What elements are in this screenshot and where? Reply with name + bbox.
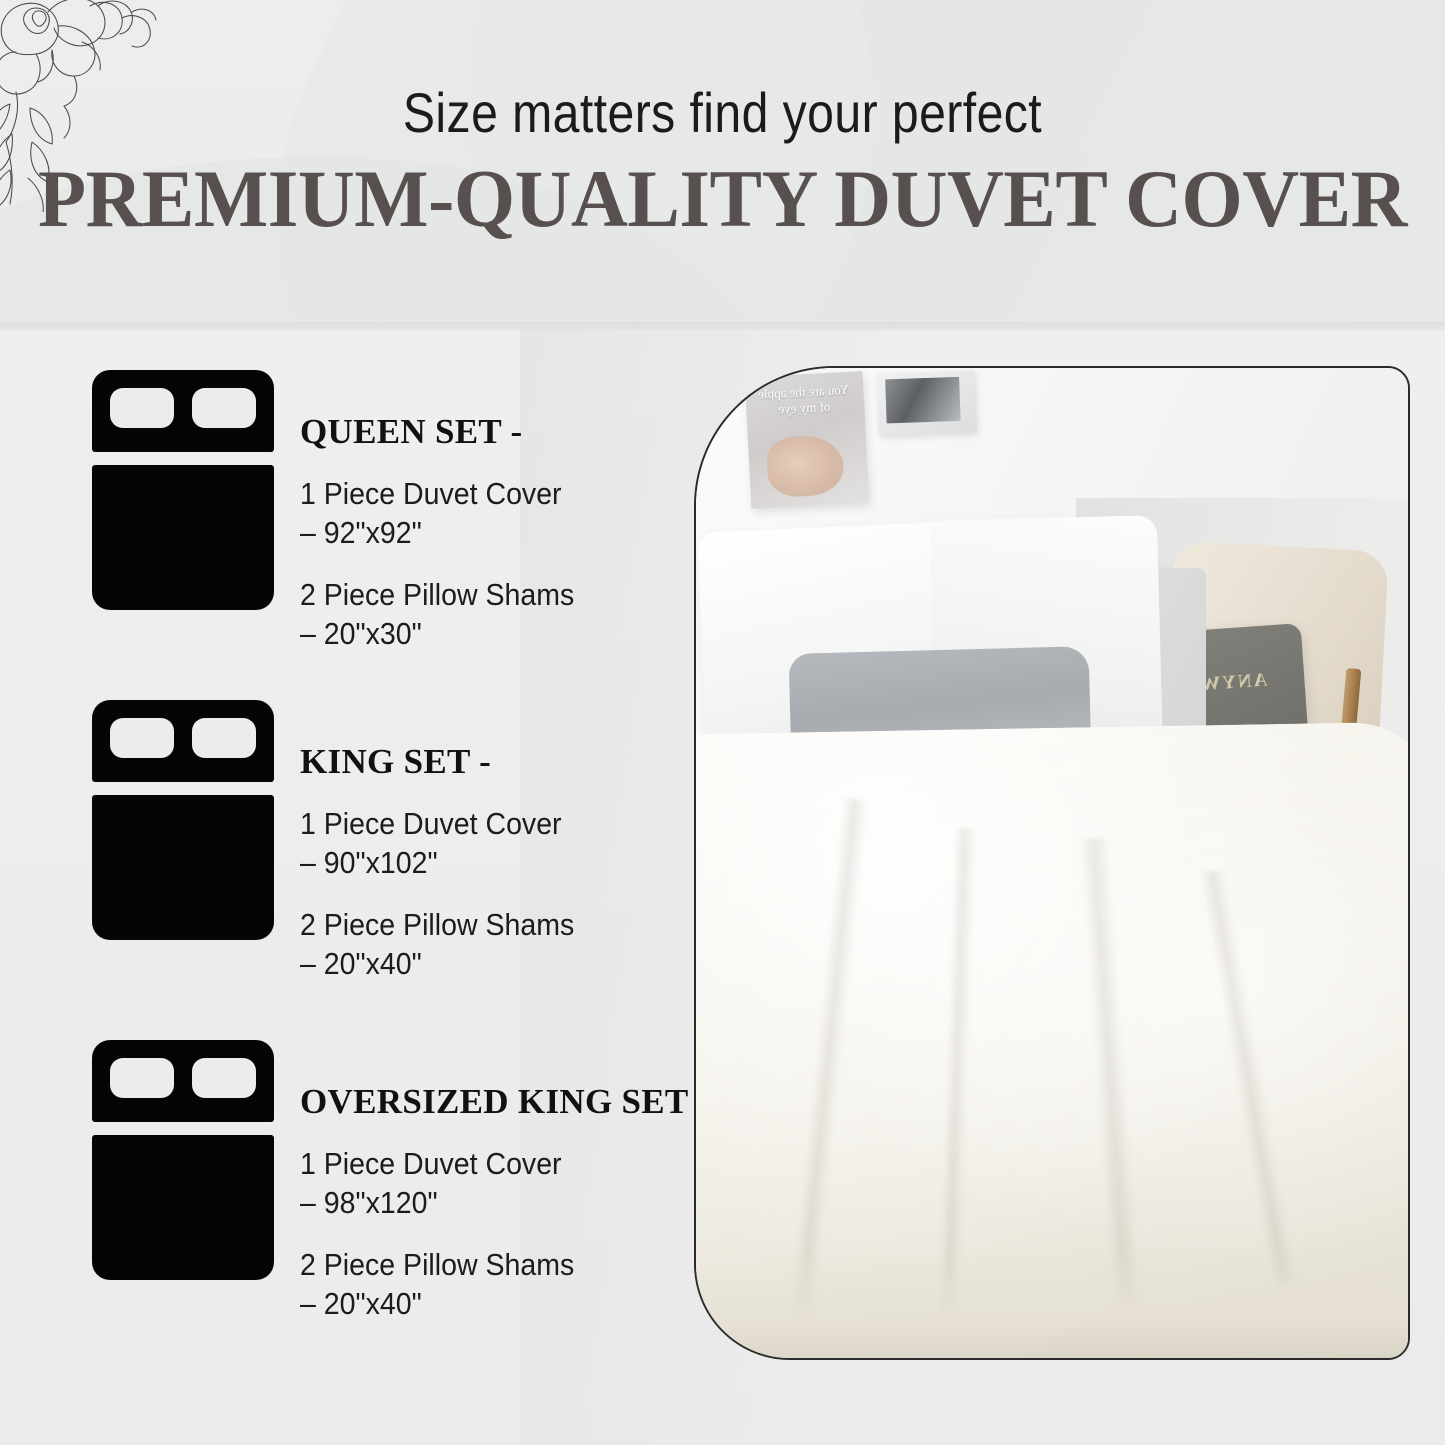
bed-mattress-shape xyxy=(92,1135,274,1280)
size-row-oversized-king: OVERSIZED KING SET - 1 Piece Duvet Cover… xyxy=(92,1040,709,1323)
size-detail-line: 1 Piece Duvet Cover xyxy=(300,474,574,513)
size-detail-line: 2 Piece Pillow Shams xyxy=(300,1245,676,1284)
wall-poster-left: You are the apple of my eye xyxy=(745,371,870,509)
header: Size matters find your perfect PREMIUM-Q… xyxy=(0,0,1445,325)
bed-headboard-shape xyxy=(92,700,274,782)
bedroom-lifestyle-photo: You are the apple of my eye ANYWHERE xyxy=(694,366,1410,1360)
size-detail-line: – 92"x92" xyxy=(300,513,574,552)
bed-headboard-shape xyxy=(92,1040,274,1122)
bed-pillow-left xyxy=(110,718,174,758)
size-row-king: KING SET - 1 Piece Duvet Cover – 90"x102… xyxy=(92,700,598,983)
duvet-hem xyxy=(694,1241,1410,1360)
bed-mattress-shape xyxy=(92,465,274,610)
size-detail-line: – 98"x120" xyxy=(300,1183,676,1222)
size-title: KING SET - xyxy=(300,742,598,782)
size-title: QUEEN SET - xyxy=(300,412,598,452)
bed-pillow-right xyxy=(192,1058,256,1098)
size-detail-line: 2 Piece Pillow Shams xyxy=(300,905,574,944)
bed-icon xyxy=(92,700,274,940)
size-detail-line: – 20"x40" xyxy=(300,1284,676,1323)
wall-poster-right xyxy=(877,370,977,435)
infographic-canvas: Size matters find your perfect PREMIUM-Q… xyxy=(0,0,1445,1445)
bed-pillow-right xyxy=(192,388,256,428)
page-title: PREMIUM-QUALITY DUVET COVER xyxy=(29,157,1416,241)
size-detail-line: 2 Piece Pillow Shams xyxy=(300,575,574,614)
bed-mattress-shape xyxy=(92,795,274,940)
size-text-block: QUEEN SET - 1 Piece Duvet Cover – 92"x92… xyxy=(300,370,598,653)
poster-text: You are the apple of my eye xyxy=(753,382,855,420)
size-text-block: KING SET - 1 Piece Duvet Cover – 90"x102… xyxy=(300,700,598,983)
title-block: Size matters find your perfect PREMIUM-Q… xyxy=(0,84,1445,240)
poster-hand-graphic xyxy=(766,434,845,498)
bed-headboard-shape xyxy=(92,370,274,452)
bed-pillow-left xyxy=(110,388,174,428)
poster-photo-graphic xyxy=(885,377,960,424)
page-subtitle: Size matters find your perfect xyxy=(101,84,1344,143)
size-text-block: OVERSIZED KING SET - 1 Piece Duvet Cover… xyxy=(300,1040,709,1323)
size-list: QUEEN SET - 1 Piece Duvet Cover – 92"x92… xyxy=(0,325,660,1445)
size-detail-line: – 90"x102" xyxy=(300,843,574,882)
bed-pillow-left xyxy=(110,1058,174,1098)
size-detail-line: – 20"x40" xyxy=(300,944,574,983)
size-detail-line: – 20"x30" xyxy=(300,614,574,653)
size-detail-line: 1 Piece Duvet Cover xyxy=(300,804,574,843)
size-detail-line: 1 Piece Duvet Cover xyxy=(300,1144,676,1183)
size-row-queen: QUEEN SET - 1 Piece Duvet Cover – 92"x92… xyxy=(92,370,598,653)
bed-icon xyxy=(92,370,274,610)
bed-icon xyxy=(92,1040,274,1280)
size-title: OVERSIZED KING SET - xyxy=(300,1082,709,1122)
bed-pillow-right xyxy=(192,718,256,758)
